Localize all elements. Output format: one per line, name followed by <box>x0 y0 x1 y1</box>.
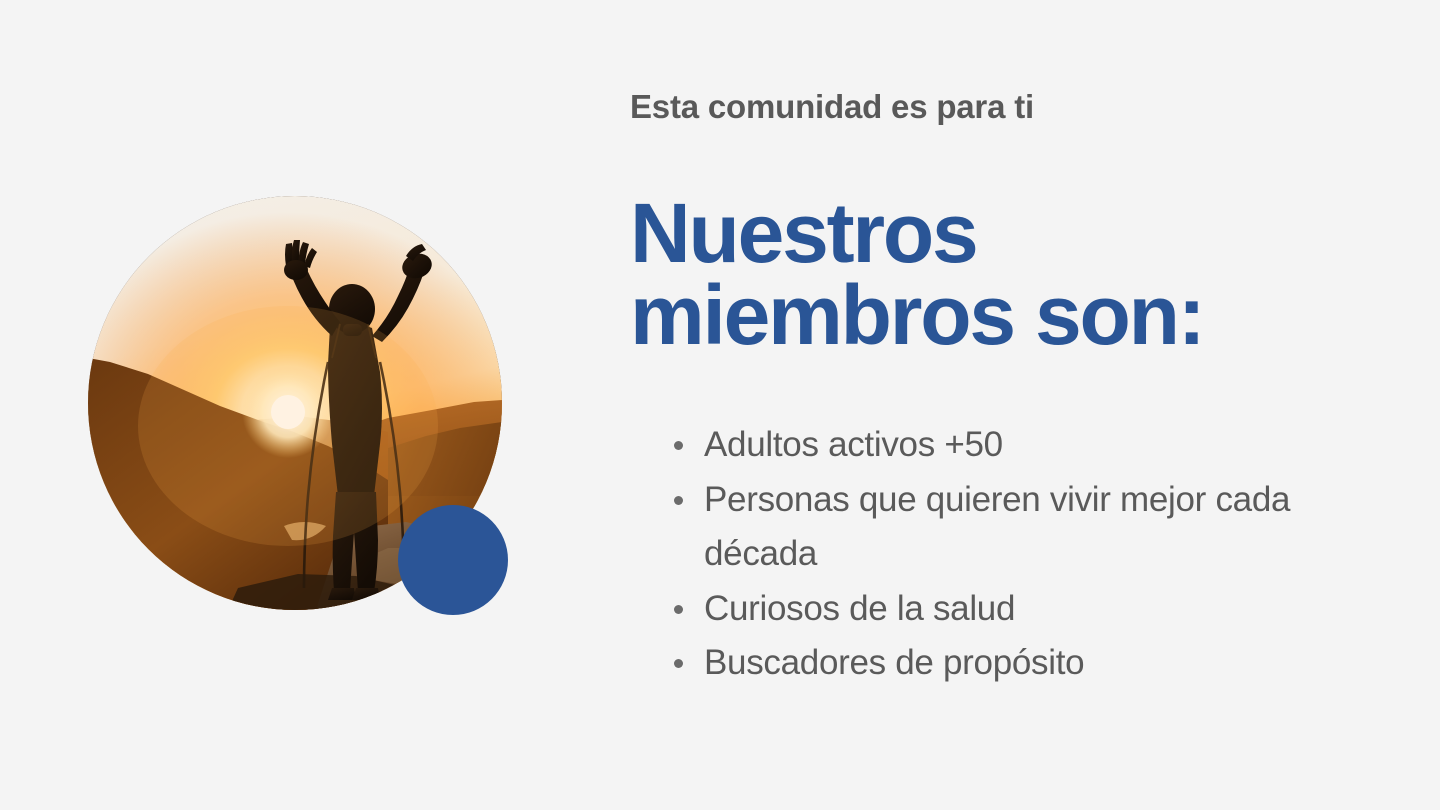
eyebrow-text: Esta comunidad es para ti <box>630 88 1034 126</box>
list-item-label: Curiosos de la salud <box>704 589 1015 628</box>
bullet-dot-icon <box>674 659 683 668</box>
headline-line-2: miembros son: <box>630 268 1204 362</box>
headline-line-1: Nuestros <box>630 186 977 280</box>
media-block <box>88 196 502 610</box>
page-title: Nuestros miembros son: <box>630 192 1360 357</box>
list-item-label: Buscadores de propósito <box>704 643 1084 682</box>
bullet-dot-icon <box>674 496 683 505</box>
list-item: Adultos activos +50 <box>668 418 1308 473</box>
bullet-dot-icon <box>674 605 683 614</box>
slide-root: Esta comunidad es para ti Nuestros miemb… <box>0 0 1440 810</box>
member-traits-list: Adultos activos +50 Personas que quieren… <box>668 418 1308 691</box>
list-item: Buscadores de propósito <box>668 636 1308 691</box>
text-column: Esta comunidad es para ti Nuestros miemb… <box>630 0 1390 810</box>
accent-circle <box>398 505 508 615</box>
list-item-label: Personas que quieren vivir mejor cada dé… <box>704 480 1290 574</box>
list-item: Personas que quieren vivir mejor cada dé… <box>668 473 1308 582</box>
bullet-dot-icon <box>674 441 683 450</box>
list-item: Curiosos de la salud <box>668 582 1308 637</box>
list-item-label: Adultos activos +50 <box>704 425 1003 464</box>
